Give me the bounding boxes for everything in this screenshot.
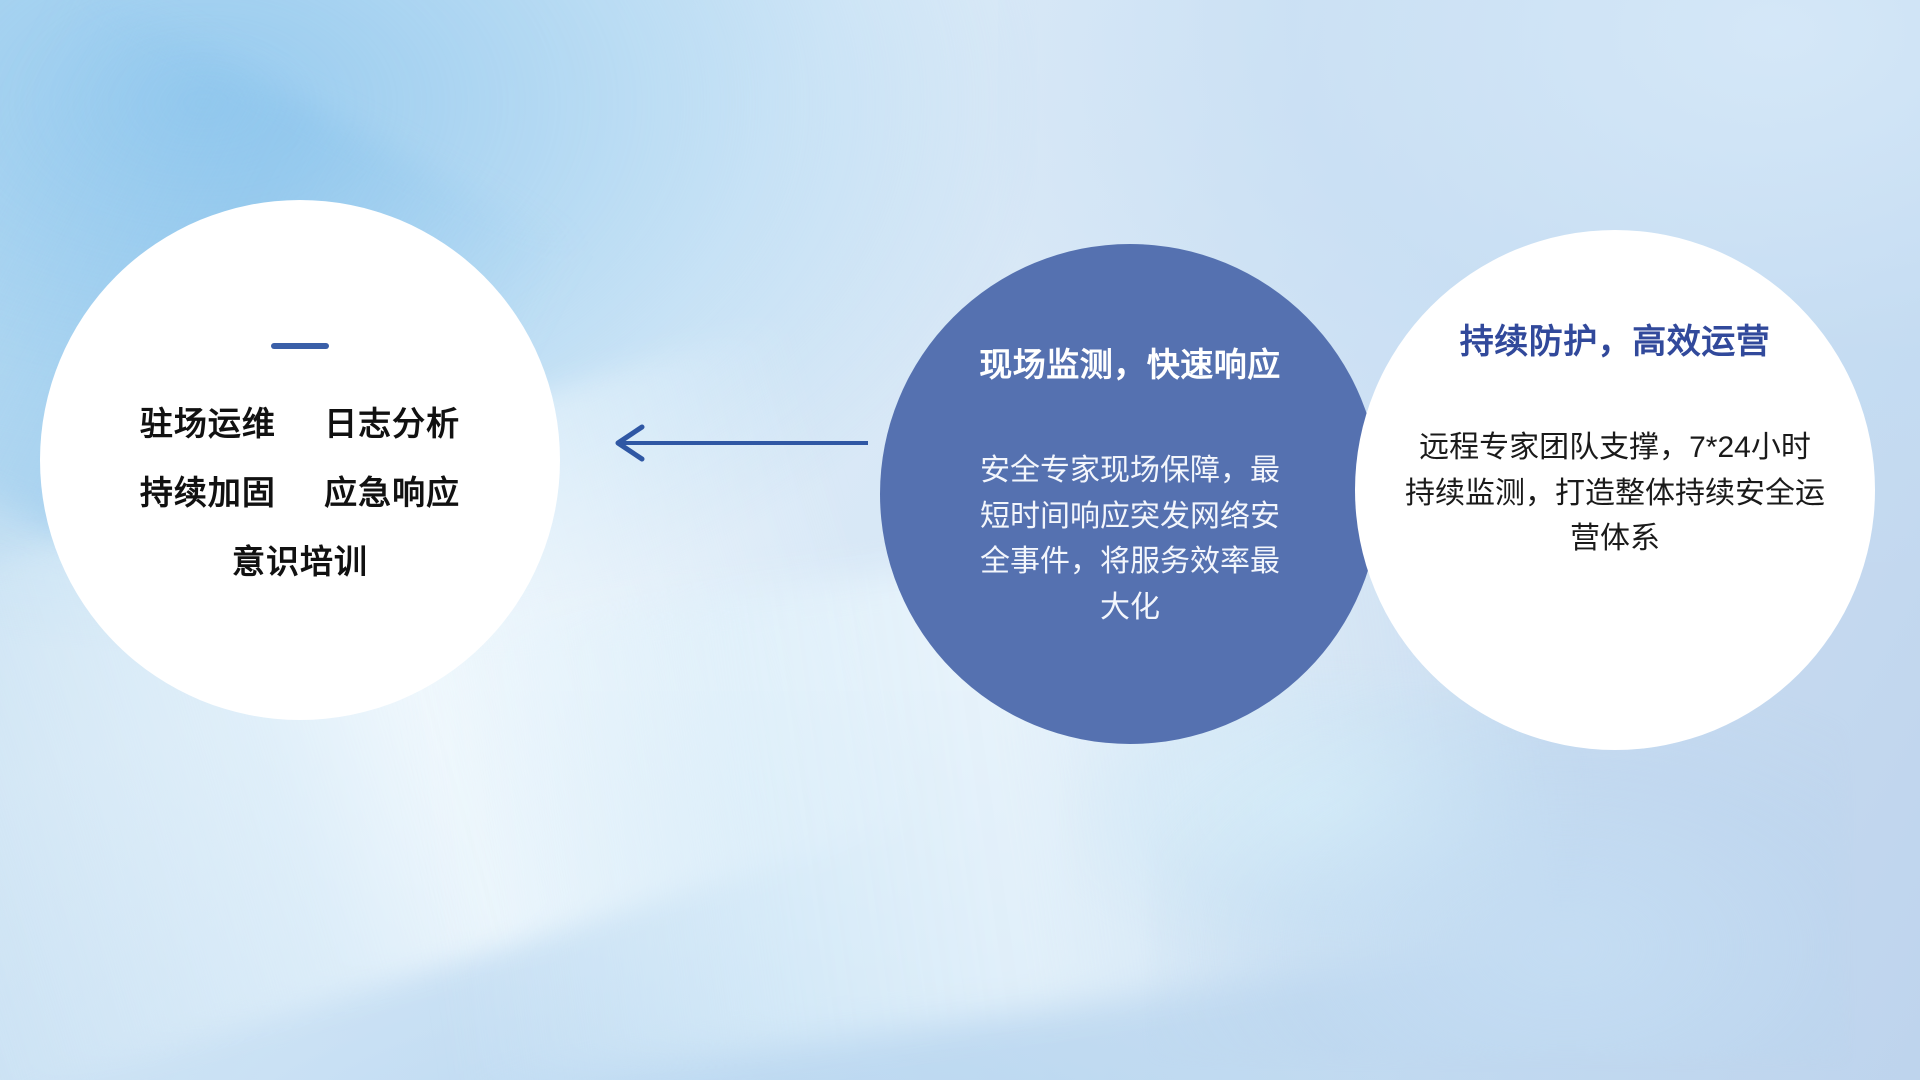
continuous-protection-circle: 持续防护，高效运营 远程专家团队支撑，7*24小时持续监测，打造整体持续安全运营… xyxy=(1355,230,1875,750)
capability-label: 应急响应 xyxy=(324,474,460,511)
card-title: 持续防护，高效运营 xyxy=(1460,314,1771,363)
horizontal-dash-icon xyxy=(271,343,329,349)
arrow-left-icon xyxy=(600,418,870,468)
onsite-monitoring-circle: 现场监测，快速响应 安全专家现场保障，最短时间响应突发网络安全事件，将服务效率最… xyxy=(880,244,1380,744)
slide-canvas: 驻场运维 日志分析 持续加固 应急响应 意识培训 现场监测，快速响应 安全专家现… xyxy=(0,0,1920,1080)
capability-row: 驻场运维 日志分析 xyxy=(140,407,460,440)
service-capability-circle: 驻场运维 日志分析 持续加固 应急响应 意识培训 xyxy=(40,200,560,720)
capability-row: 持续加固 应急响应 xyxy=(140,476,460,509)
capability-row: 意识培训 xyxy=(232,545,368,578)
capability-label: 日志分析 xyxy=(324,405,460,442)
capability-label: 持续加固 xyxy=(140,474,276,511)
background-glow-bottom-right xyxy=(1152,691,1843,1058)
capability-label: 意识培训 xyxy=(232,543,368,580)
card-title: 现场监测，快速响应 xyxy=(979,338,1281,386)
card-body: 安全专家现场保障，最短时间响应突发网络安全事件，将服务效率最大化 xyxy=(980,448,1280,630)
capability-label: 驻场运维 xyxy=(140,405,276,442)
card-body: 远程专家团队支撑，7*24小时持续监测，打造整体持续安全运营体系 xyxy=(1405,425,1825,562)
